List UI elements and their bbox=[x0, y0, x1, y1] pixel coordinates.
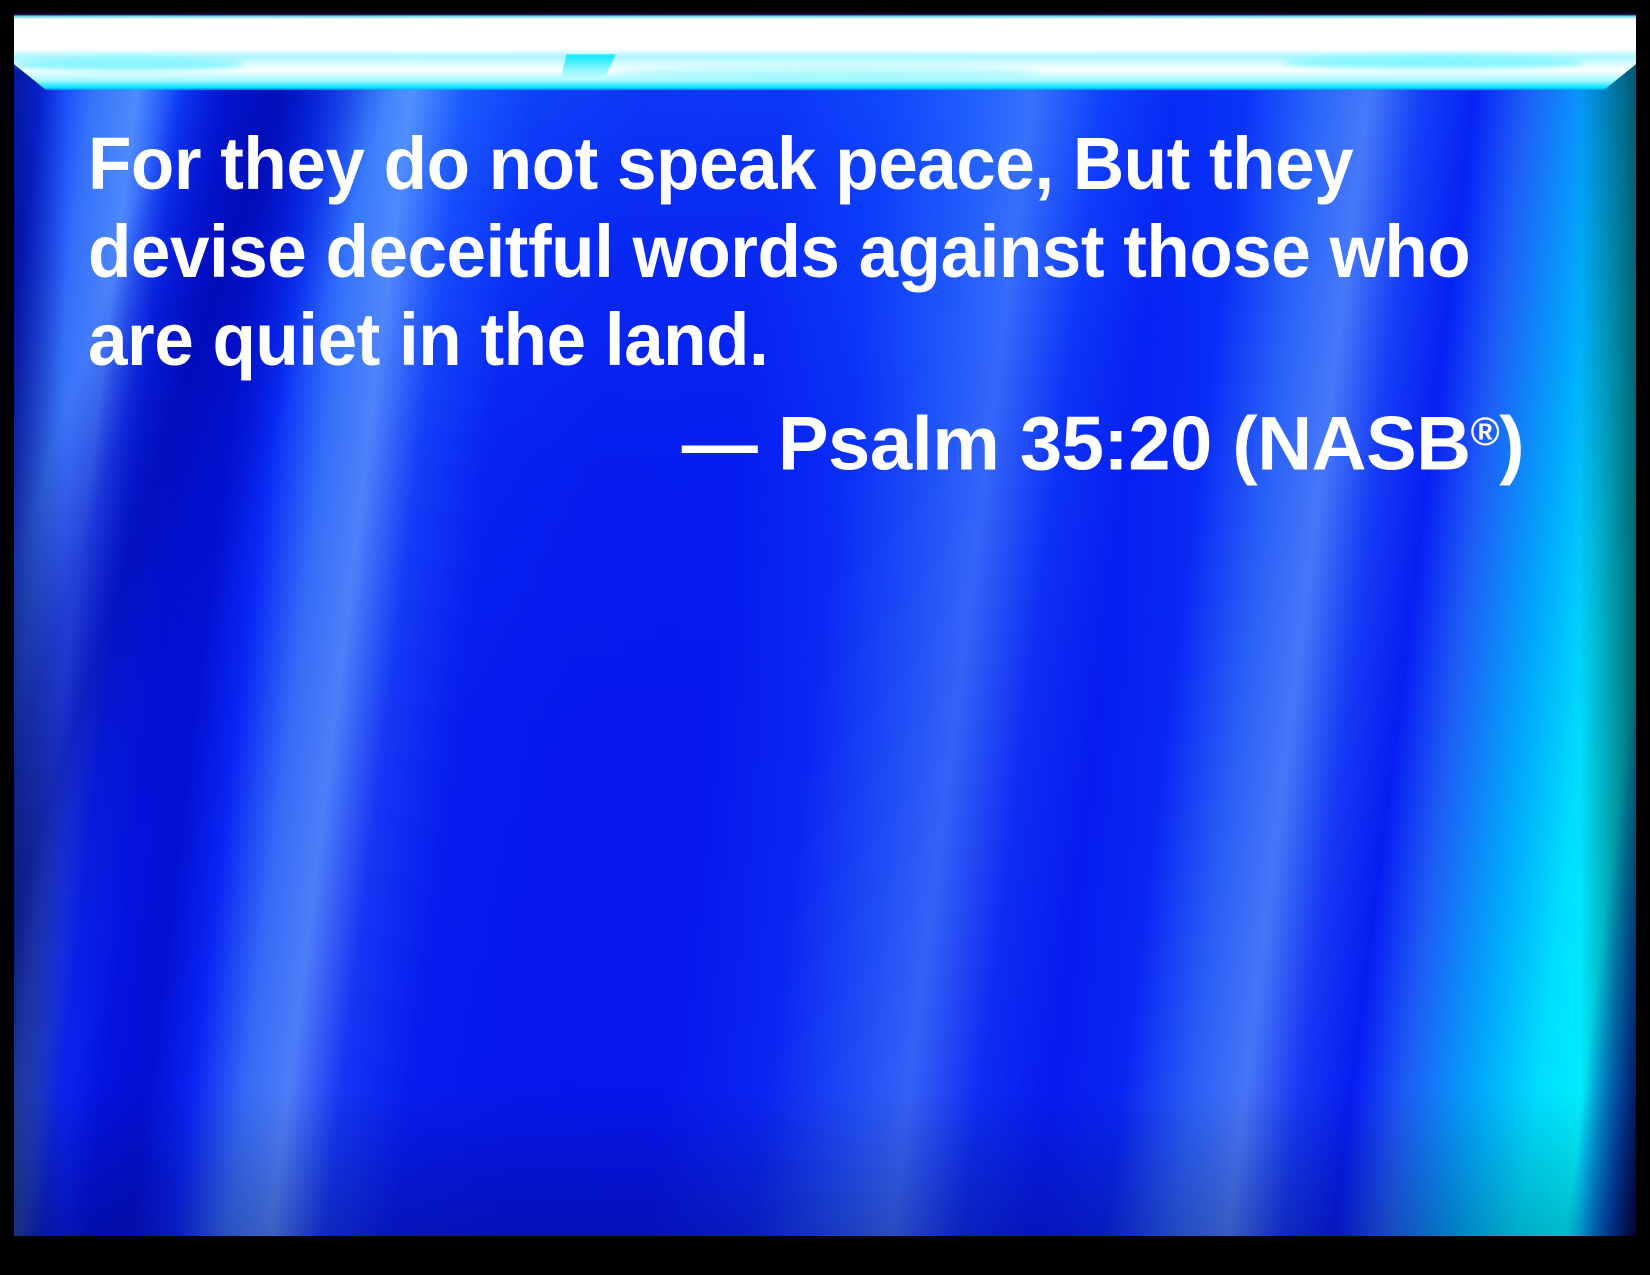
glow-wisp-right bbox=[1284, 56, 1584, 69]
slide-frame: For they do not speak peace, But they de… bbox=[0, 0, 1650, 1275]
glow-wisp-center bbox=[614, 66, 1044, 79]
attribution-dash: — bbox=[682, 402, 758, 487]
glow-wisp-left bbox=[14, 58, 244, 71]
top-glow-banner bbox=[14, 12, 1636, 122]
verse-text-block: For they do not speak peace, But they de… bbox=[88, 120, 1518, 384]
attribution-translation-open: (NASB bbox=[1232, 402, 1470, 487]
slide-canvas: For they do not speak peace, But they de… bbox=[14, 12, 1636, 1236]
verse-line-1: For they do not speak peace, But they bbox=[88, 120, 1461, 208]
attribution-reference: Psalm 35:20 bbox=[778, 402, 1212, 487]
verse-attribution: — Psalm 35:20 (NASB®) bbox=[88, 386, 1524, 491]
verse-line-2: devise deceitful words against those who bbox=[88, 208, 1461, 296]
attribution-translation-close: ) bbox=[1499, 402, 1524, 487]
registered-trademark-icon: ® bbox=[1471, 410, 1500, 454]
top-edge-shadow bbox=[14, 12, 1636, 16]
verse-line-3: are quiet in the land. bbox=[88, 296, 1461, 384]
